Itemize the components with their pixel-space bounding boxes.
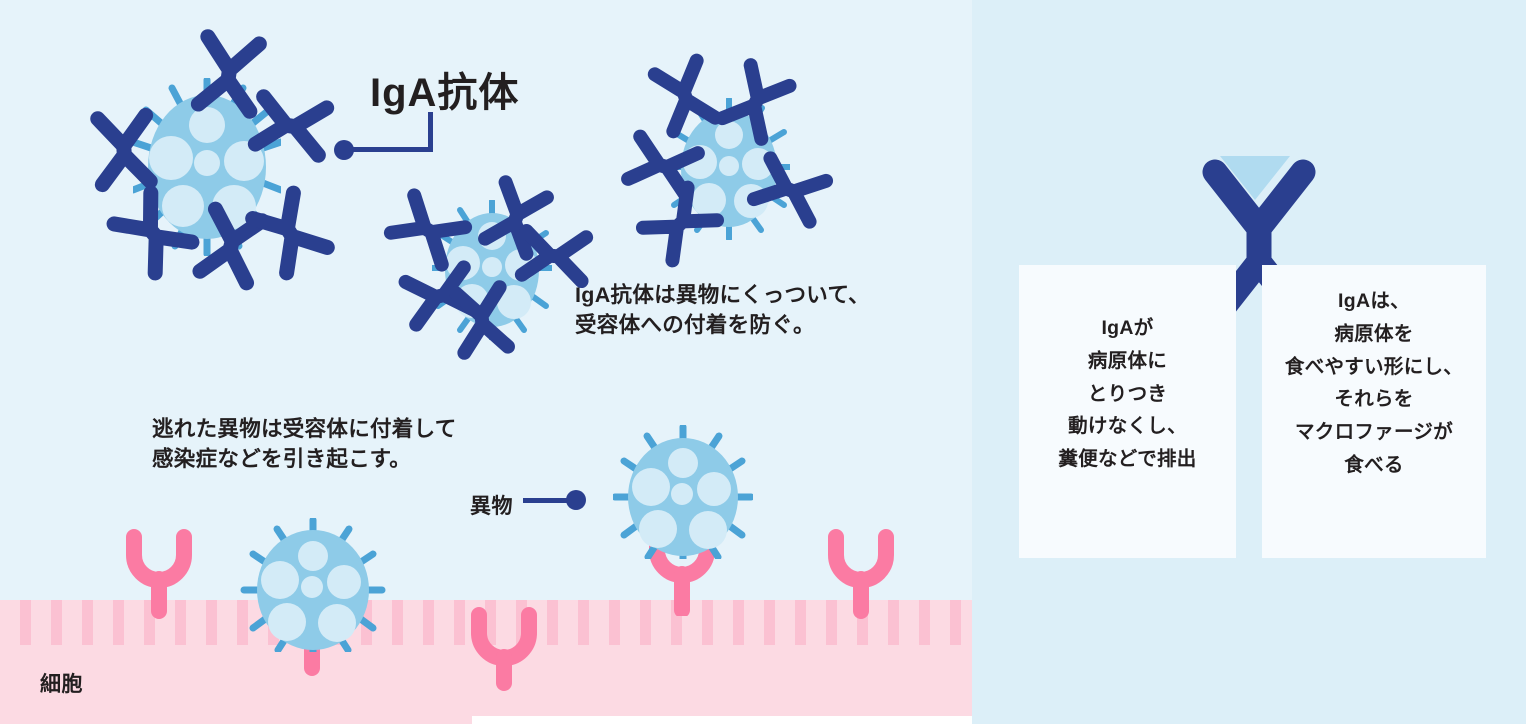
antibody-icon-9 xyxy=(513,222,595,290)
bottom-white-strip xyxy=(472,716,972,724)
leader-dot xyxy=(334,140,354,160)
leader-line-horizontal xyxy=(348,147,433,152)
card-2-line: 食べやすい形にし、 xyxy=(1262,351,1486,384)
antibody-icon-11 xyxy=(447,278,517,362)
card-2-line: 病原体を xyxy=(1262,318,1486,351)
virus-particle-4-attached xyxy=(240,518,386,652)
infographic-canvas: 細胞 xyxy=(0,0,1526,724)
leader-line-vertical xyxy=(428,112,433,152)
cell-label: 細胞 xyxy=(40,668,83,698)
page-title-iga-antibody: IgA抗体 xyxy=(370,60,519,118)
card-1-text: IgAが 病原体に とりつき 動けなくし、 糞便などで排出 xyxy=(1019,312,1236,476)
card-2-line: 食べる xyxy=(1262,449,1486,482)
virus-particle-5-attached xyxy=(613,425,753,559)
antibody-icon-3 xyxy=(245,86,337,165)
card-iga-macrophage: IgAは、 病原体を 食べやすい形にし、 それらを マクロファージが 食べる xyxy=(1262,265,1486,558)
caption-line: 逃れた異物は受容体に付着して xyxy=(152,415,457,445)
caption-line: 感染症などを引き起こす。 xyxy=(152,445,457,475)
caption-line: 受容体への付着を防ぐ。 xyxy=(575,311,870,341)
card-1-line: 動けなくし、 xyxy=(1019,410,1236,443)
receptor-1 xyxy=(122,525,196,621)
card-iga-traps-pathogen: IgAが 病原体に とりつき 動けなくし、 糞便などで排出 xyxy=(1019,265,1236,558)
foreign-leader-dot xyxy=(566,490,586,510)
receptor-3 xyxy=(467,605,541,691)
foreign-body-label: 異物 xyxy=(470,490,513,520)
card-1-line: 糞便などで排出 xyxy=(1019,443,1236,476)
caption-iga-blocks-receptor: IgA抗体は異物にくっついて、 受容体への付着を防ぐ。 xyxy=(575,281,870,340)
card-1-line: IgAが xyxy=(1019,312,1236,345)
card-2-line: それらを xyxy=(1262,383,1486,416)
card-2-text: IgAは、 病原体を 食べやすい形にし、 それらを マクロファージが 食べる xyxy=(1262,285,1486,482)
card-1-line: 病原体に xyxy=(1019,345,1236,378)
card-2-line: IgAは、 xyxy=(1262,285,1486,318)
receptor-5 xyxy=(824,525,898,621)
caption-line: IgA抗体は異物にくっついて、 xyxy=(575,281,870,311)
caption-escaped-foreign-body: 逃れた異物は受容体に付着して 感染症などを引き起こす。 xyxy=(152,415,457,474)
card-1-line: とりつき xyxy=(1019,378,1236,411)
card-2-line: マクロファージが xyxy=(1262,416,1486,449)
